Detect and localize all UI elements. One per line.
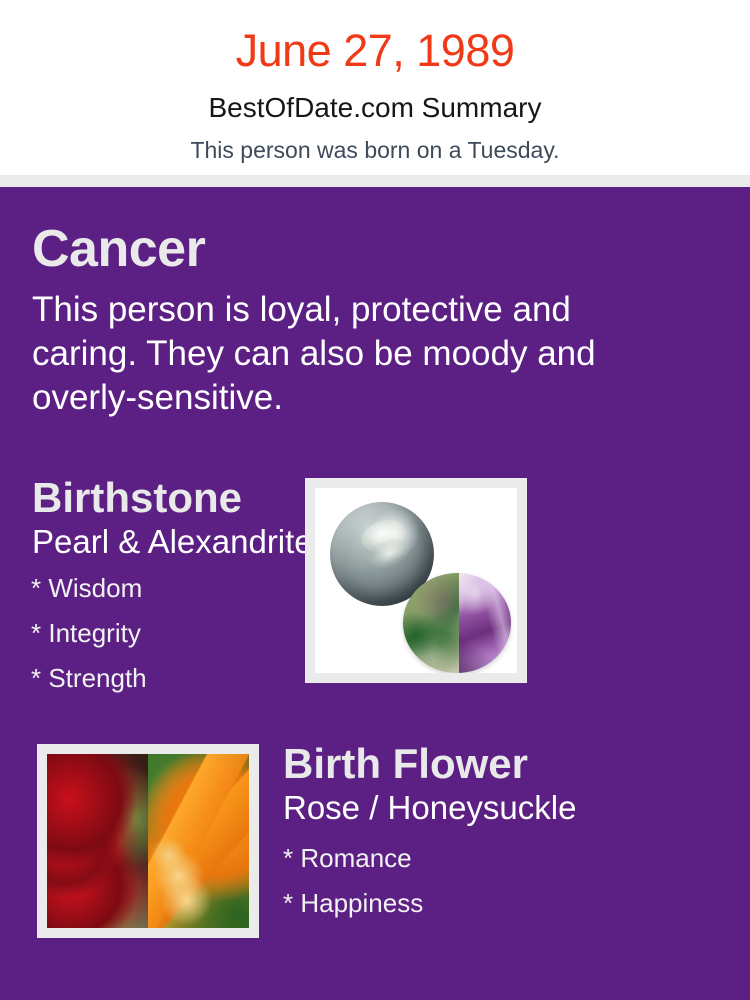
- summary-card: June 27, 1989 BestOfDate.com Summary Thi…: [0, 0, 750, 1000]
- birthstone-image: [315, 488, 517, 673]
- list-item: * Wisdom: [31, 575, 147, 601]
- list-item: * Strength: [31, 665, 147, 691]
- rose-photo-half: [47, 754, 148, 928]
- header: June 27, 1989 BestOfDate.com Summary Thi…: [0, 0, 750, 175]
- header-divider: [0, 175, 750, 187]
- birth-flower-image: [47, 754, 249, 928]
- birth-flower-heading: Birth Flower: [283, 743, 528, 785]
- page-title-date: June 27, 1989: [0, 0, 750, 73]
- alexandrite-rough-half: [403, 573, 459, 673]
- birth-flower-trait-list: * Romance * Happiness: [283, 845, 423, 935]
- birth-flower-image-frame: [37, 744, 259, 938]
- birthstone-name: Pearl & Alexandrite: [32, 525, 313, 558]
- alexandrite-faceted-half: [459, 573, 511, 673]
- alexandrite-gem-icon: [403, 573, 511, 673]
- list-item: * Integrity: [31, 620, 147, 646]
- list-item: * Romance: [283, 845, 423, 871]
- zodiac-description: This person is loyal, protective and car…: [32, 288, 652, 419]
- birthstone-heading: Birthstone: [32, 477, 242, 519]
- birthstone-trait-list: * Wisdom * Integrity * Strength: [31, 575, 147, 710]
- birth-day-text: This person was born on a Tuesday.: [0, 122, 750, 162]
- details-panel: Cancer This person is loyal, protective …: [0, 187, 750, 1000]
- zodiac-sign-name: Cancer: [32, 223, 205, 275]
- list-item: * Happiness: [283, 890, 423, 916]
- birthstone-image-frame: [305, 478, 527, 683]
- site-summary-label: BestOfDate.com Summary: [0, 73, 750, 122]
- birth-flower-name: Rose / Honeysuckle: [283, 791, 576, 824]
- honeysuckle-photo-half: [148, 754, 249, 928]
